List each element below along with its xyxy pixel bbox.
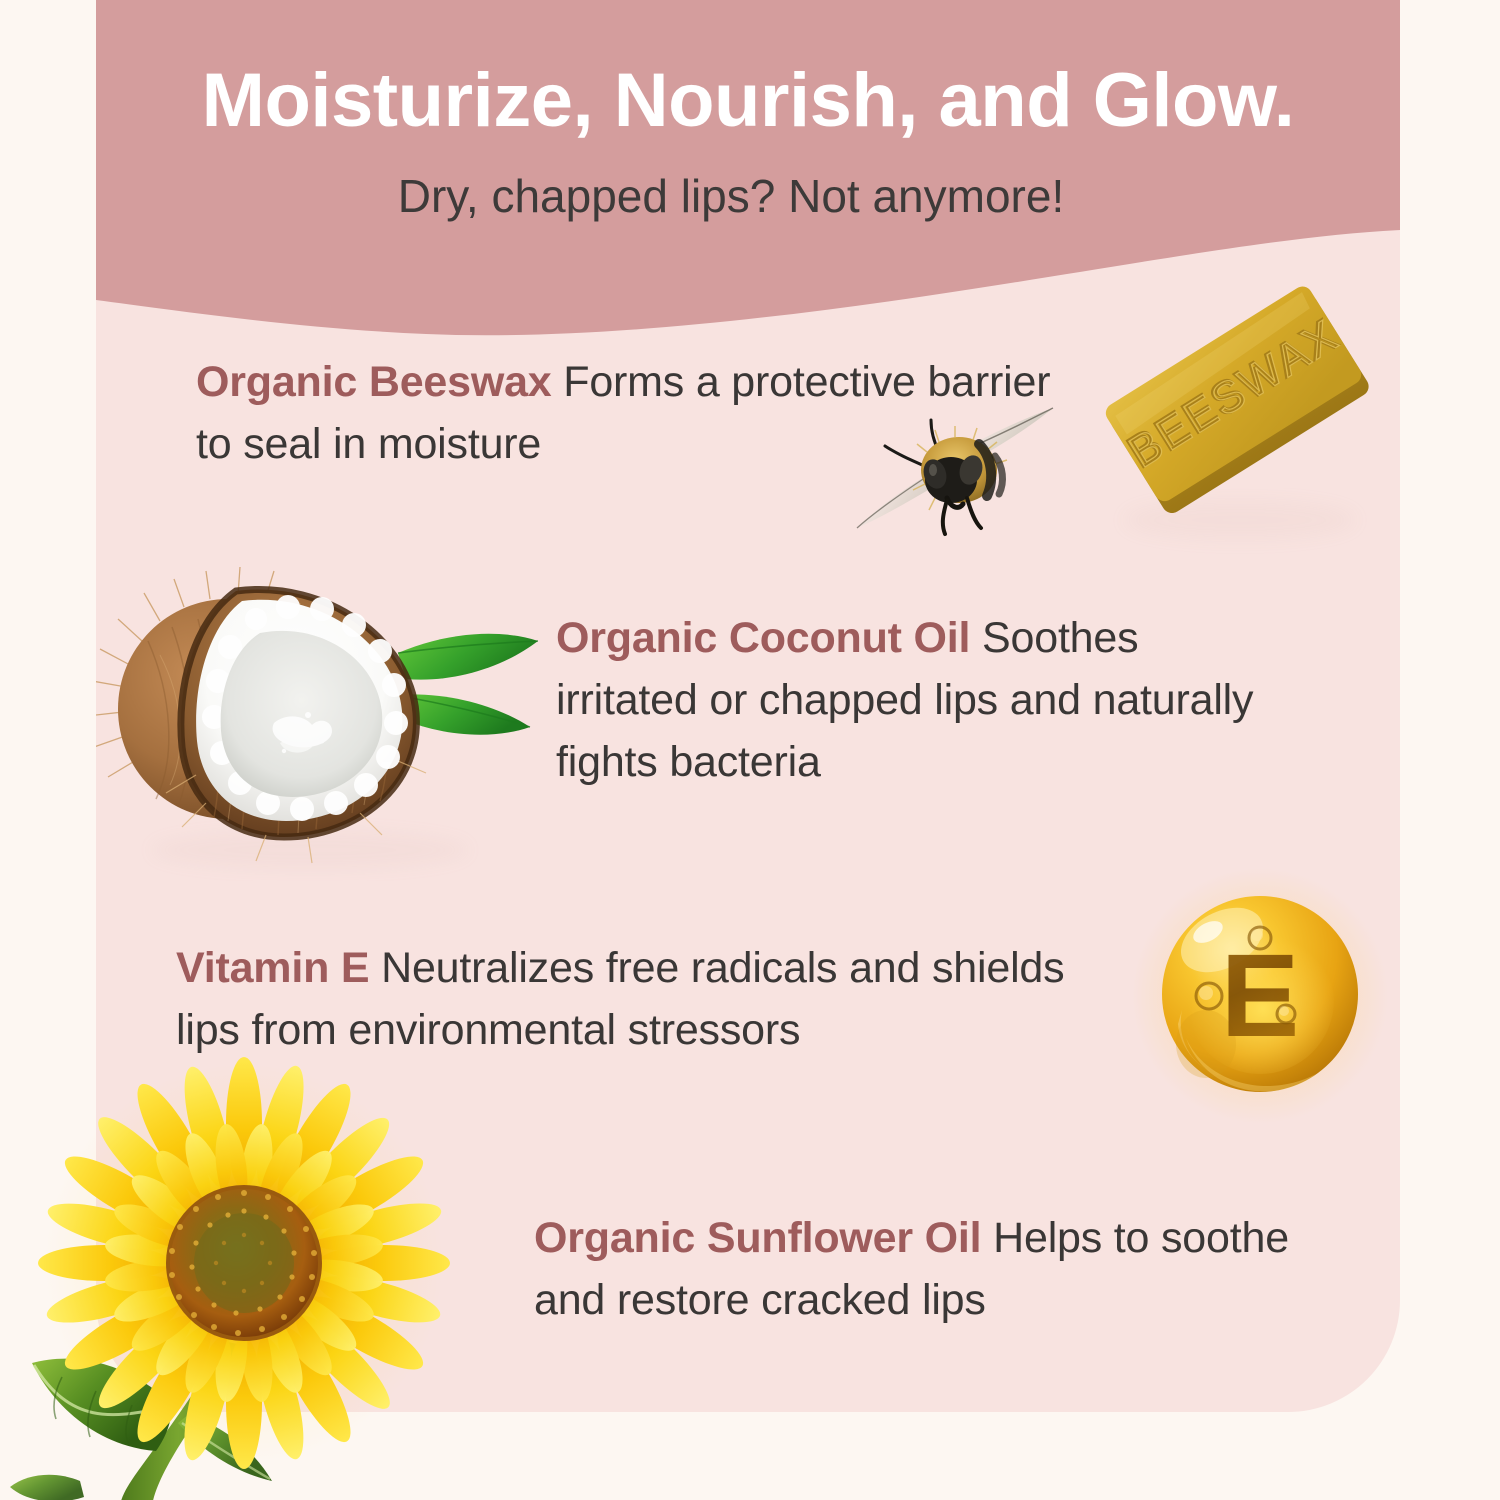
page-headline: Moisturize, Nourish, and Glow. (96, 62, 1400, 140)
sunflower-illustration (10, 1075, 480, 1500)
coconut-illustration (96, 545, 560, 875)
page-subheadline: Dry, chapped lips? Not anymore! (96, 172, 1366, 220)
sunflower-center (166, 1185, 322, 1341)
ingredient-name-sunflower-oil: Organic Sunflower Oil (534, 1214, 981, 1262)
ingredient-text-sunflower-oil: Organic Sunflower Oil Helps to soothe an… (534, 1208, 1294, 1332)
ingredient-text-vitamin-e: Vitamin E Neutralizes free radicals and … (176, 938, 1136, 1062)
ingredient-name-vitamin-e: Vitamin E (176, 944, 369, 992)
beeswax-bar-illustration: BEESWAX BEESWAX (1055, 250, 1395, 560)
ingredient-name-coconut-oil: Organic Coconut Oil (556, 614, 970, 662)
infographic-canvas: BEESWAX BEESWAX (0, 0, 1500, 1500)
ingredient-name-beeswax: Organic Beeswax (196, 358, 552, 406)
ingredient-text-beeswax: Organic Beeswax Forms a protective barri… (196, 352, 1076, 476)
coconut-half-front (166, 590, 426, 863)
vitamin-e-droplet-illustration: E (1130, 878, 1380, 1106)
ingredient-text-coconut-oil: Organic Coconut Oil Soothes irritated or… (556, 608, 1286, 794)
